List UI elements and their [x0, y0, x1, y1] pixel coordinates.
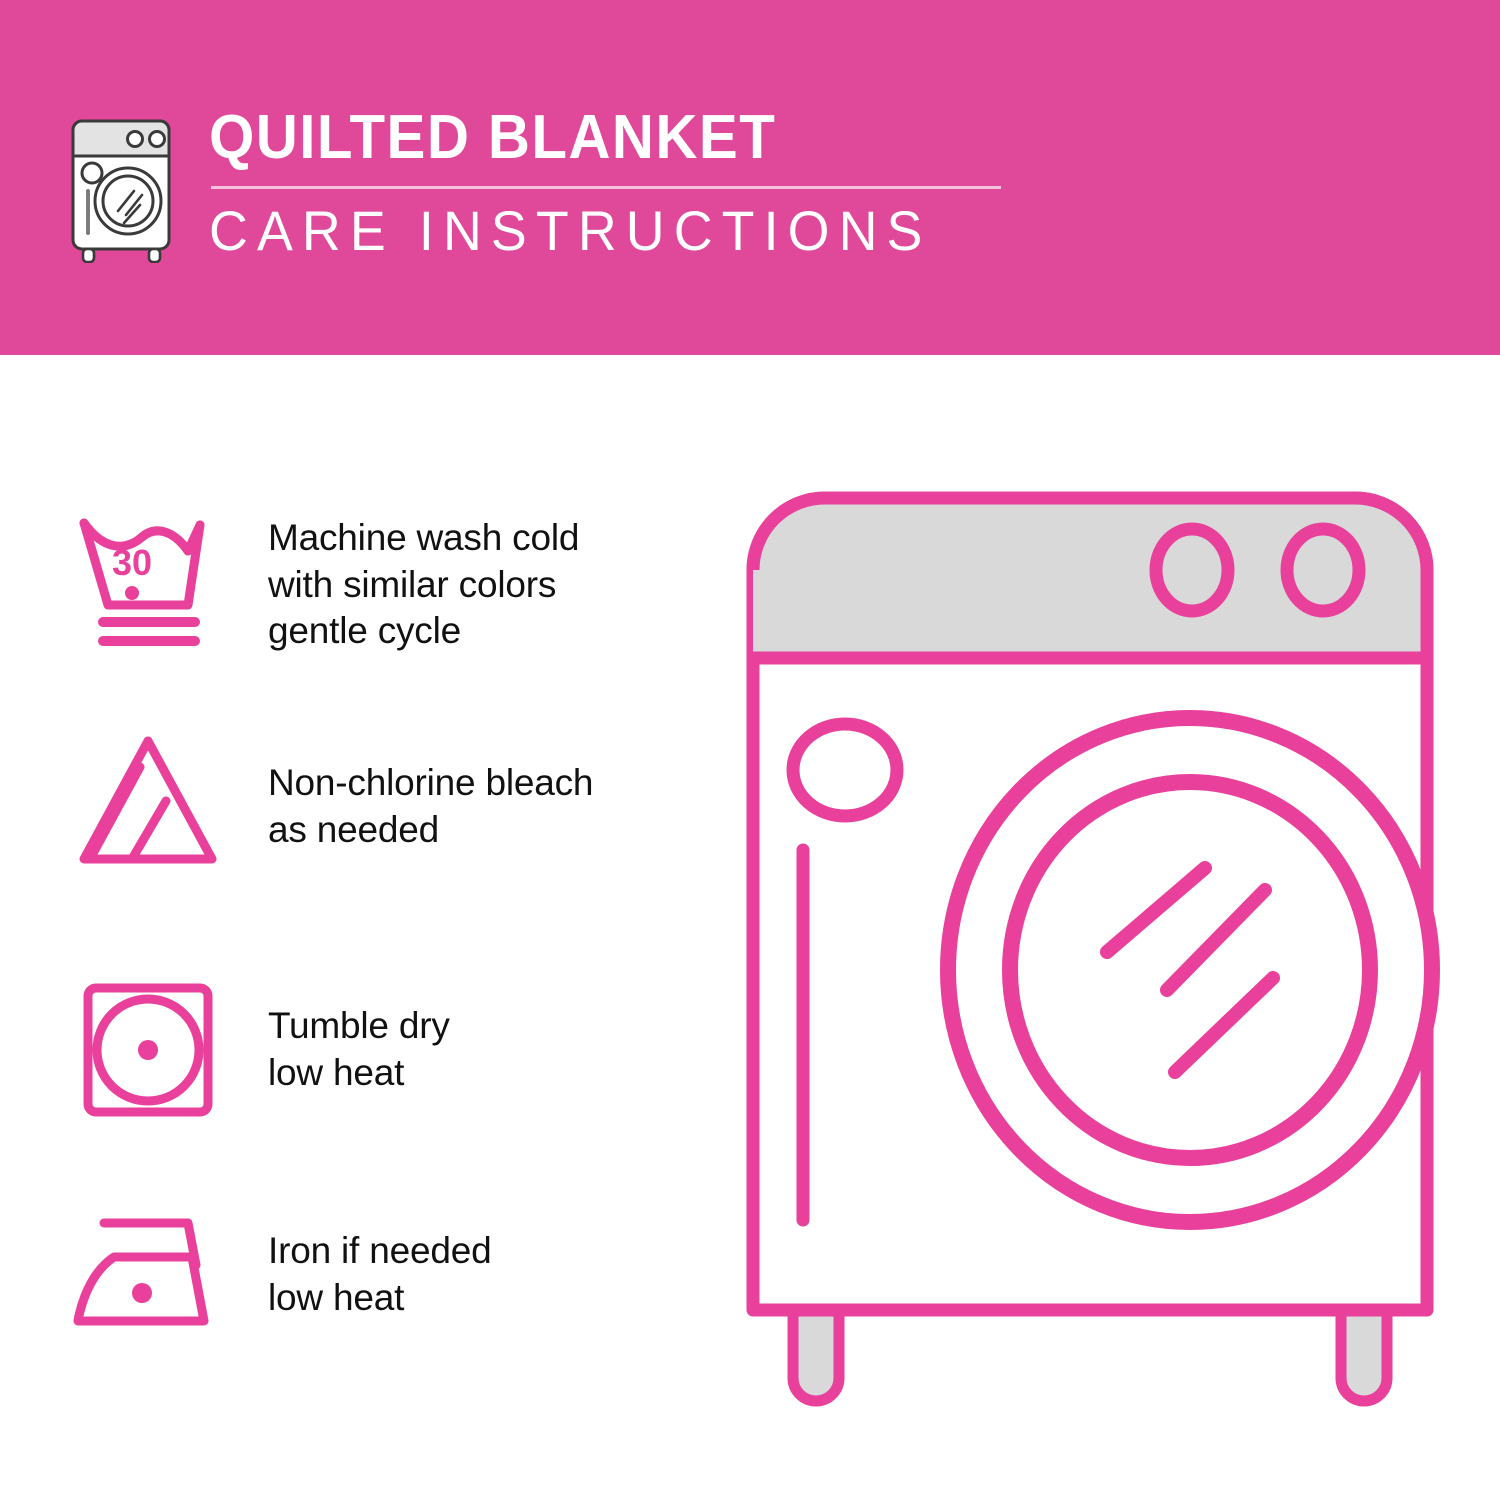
care-item-label: Machine wash cold with similar colors ge… [268, 515, 579, 656]
header-banner: QUILTED BLANKET CARE INSTRUCTIONS [0, 0, 1500, 355]
machine-dial [793, 724, 897, 816]
care-item-bleach: Non-chlorine bleach as needed [70, 727, 710, 887]
header-text-block: QUILTED BLANKET CARE INSTRUCTIONS [209, 105, 1001, 259]
page-title: QUILTED BLANKET [209, 107, 953, 169]
care-item-label: Tumble dry low heat [268, 1003, 450, 1097]
care-item-machine-wash: 30 Machine wash cold with similar colors… [70, 505, 710, 665]
header-divider [211, 186, 1001, 189]
care-instruction-list: 30 Machine wash cold with similar colors… [0, 355, 740, 1500]
page-subtitle: CARE INSTRUCTIONS [209, 203, 969, 259]
care-item-label: Iron if needed low heat [268, 1228, 491, 1322]
care-item-iron: Iron if needed low heat [70, 1195, 710, 1355]
care-item-tumble-dry: Tumble dry low heat [70, 970, 710, 1130]
header-content: QUILTED BLANKET CARE INSTRUCTIONS [62, 105, 1001, 263]
tumble-dry-low-icon [70, 970, 240, 1130]
non-chlorine-bleach-triangle-icon [70, 727, 240, 887]
machine-knob-2 [1287, 529, 1359, 611]
washing-machine-icon [62, 113, 187, 263]
wash-temperature-value: 30 [112, 542, 152, 583]
care-item-label: Non-chlorine bleach as needed [268, 760, 593, 854]
wash-tub-30-gentle-icon: 30 [70, 505, 240, 665]
front-load-washing-machine-illustration [735, 480, 1445, 1440]
iron-low-heat-icon [70, 1195, 240, 1355]
machine-knob-1 [1156, 529, 1228, 611]
